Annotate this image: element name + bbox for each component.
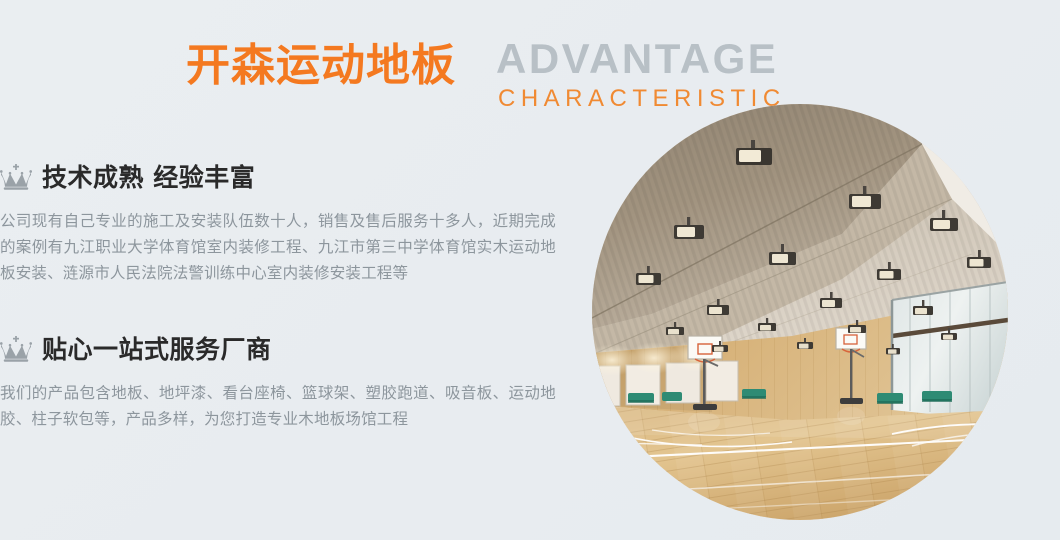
title-english-subtitle: CHARACTERISTIC	[498, 87, 786, 111]
feature-heading: 贴心一站式服务厂商	[0, 332, 575, 366]
feature-heading: 技术成熟 经验丰富	[0, 160, 575, 194]
feature-description: 我们的产品包含地板、地坪漆、看台座椅、篮球架、塑胶跑道、吸音板、运动地胶、柱子软…	[0, 380, 556, 432]
advantage-banner: ADVANTAGE CHARACTERISTIC 开森运动地板	[0, 0, 1060, 540]
title-chinese: 开森运动地板	[186, 44, 456, 88]
feature-item: 技术成熟 经验丰富 公司现有自己专业的施工及安装队伍数十人，销售及售后服务十多人…	[0, 160, 575, 286]
feature-item: 贴心一站式服务厂商 我们的产品包含地板、地坪漆、看台座椅、篮球架、塑胶跑道、吸音…	[0, 332, 575, 432]
feature-description: 公司现有自己专业的施工及安装队伍数十人，销售及售后服务十多人，近期完成的案例有九…	[0, 208, 556, 286]
feature-title: 贴心一站式服务厂商	[42, 337, 272, 362]
feature-list: 技术成熟 经验丰富 公司现有自己专业的施工及安装队伍数十人，销售及售后服务十多人…	[0, 160, 575, 432]
crown-icon	[0, 164, 32, 190]
feature-title: 技术成熟 经验丰富	[42, 165, 255, 190]
basketball-gymnasium-photo	[592, 104, 1008, 520]
crown-icon	[0, 336, 32, 362]
title-english: ADVANTAGE	[496, 38, 778, 80]
gymnasium-illustration	[592, 104, 1008, 520]
